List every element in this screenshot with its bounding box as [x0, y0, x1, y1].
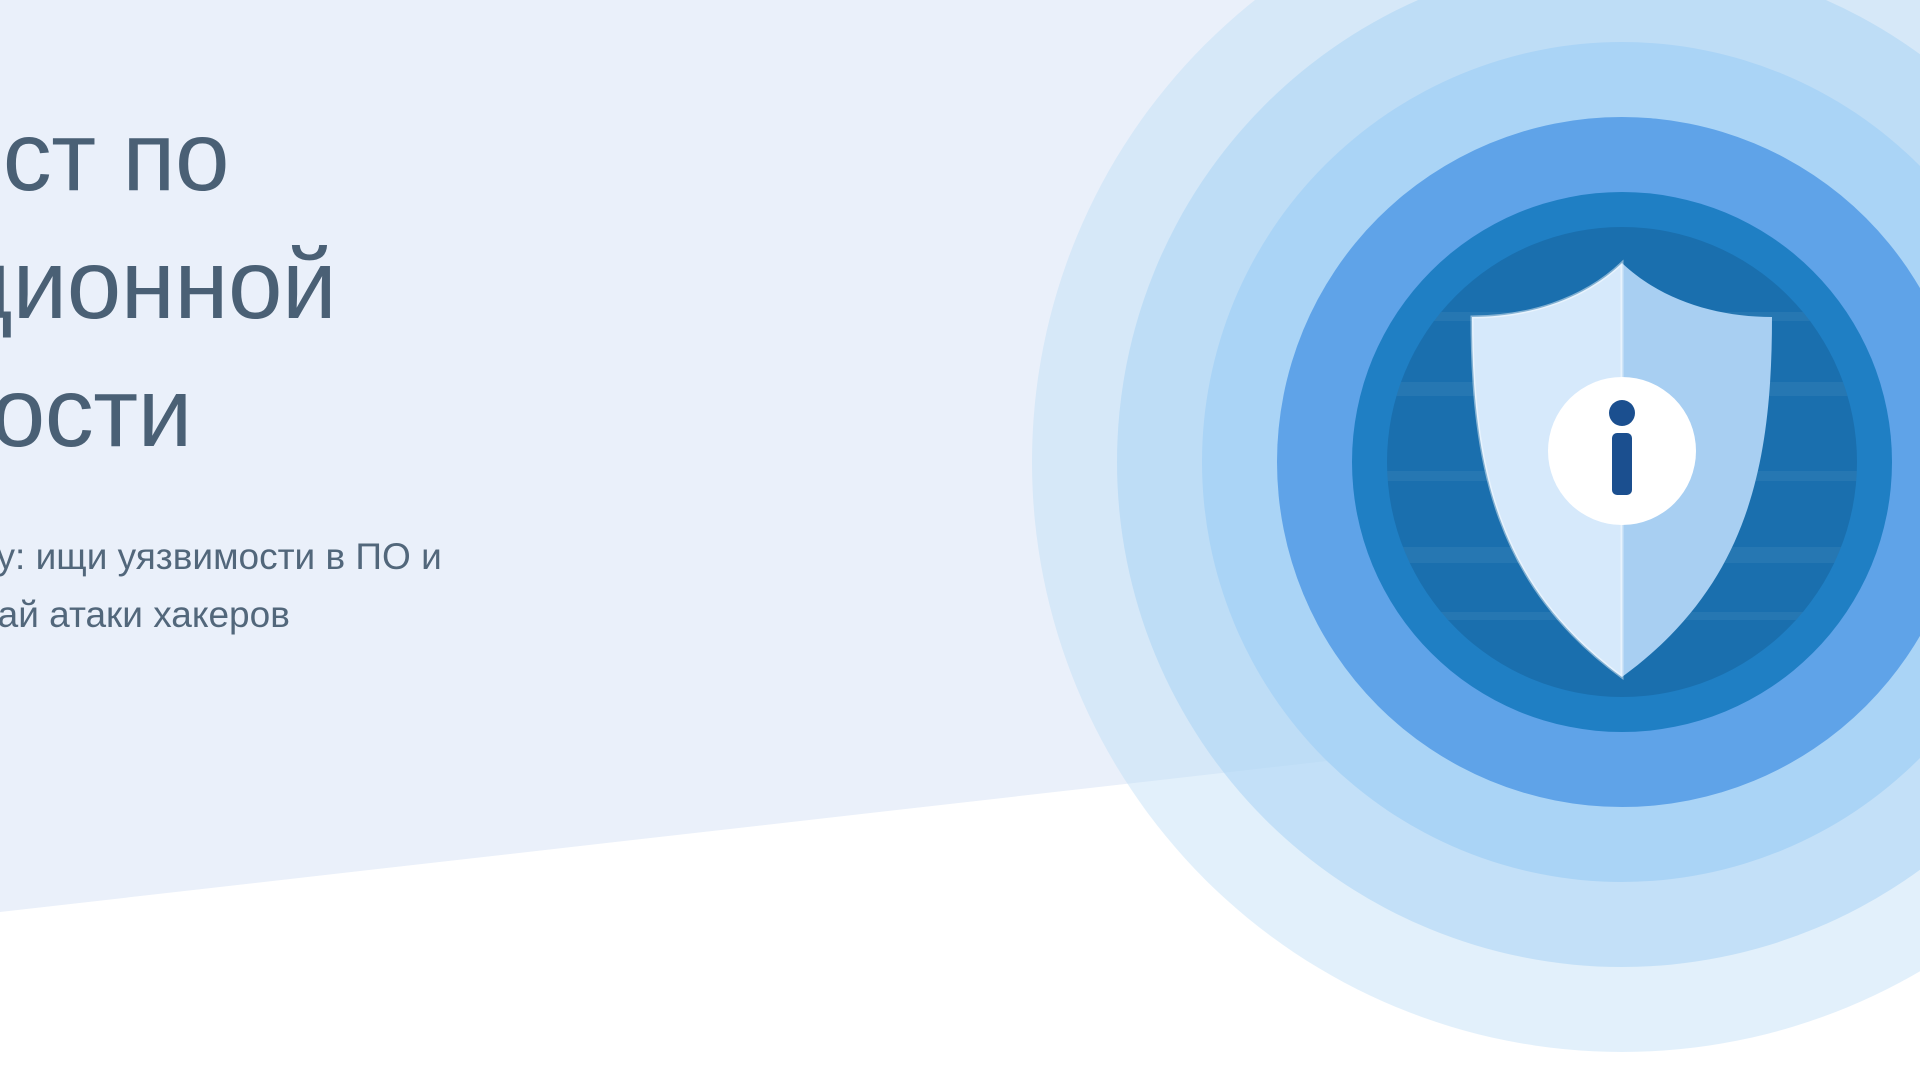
hero-content: циалист по ормационной опасности светлую… [0, 92, 908, 817]
shield-info-icon [1442, 255, 1802, 685]
hero-subtitle: светлую сторону: ищи уязвимости в ПО и и… [0, 528, 908, 644]
hero-section: циалист по ормационной опасности светлую… [0, 0, 1920, 1080]
page-title: циалист по ормационной опасности [0, 92, 908, 476]
